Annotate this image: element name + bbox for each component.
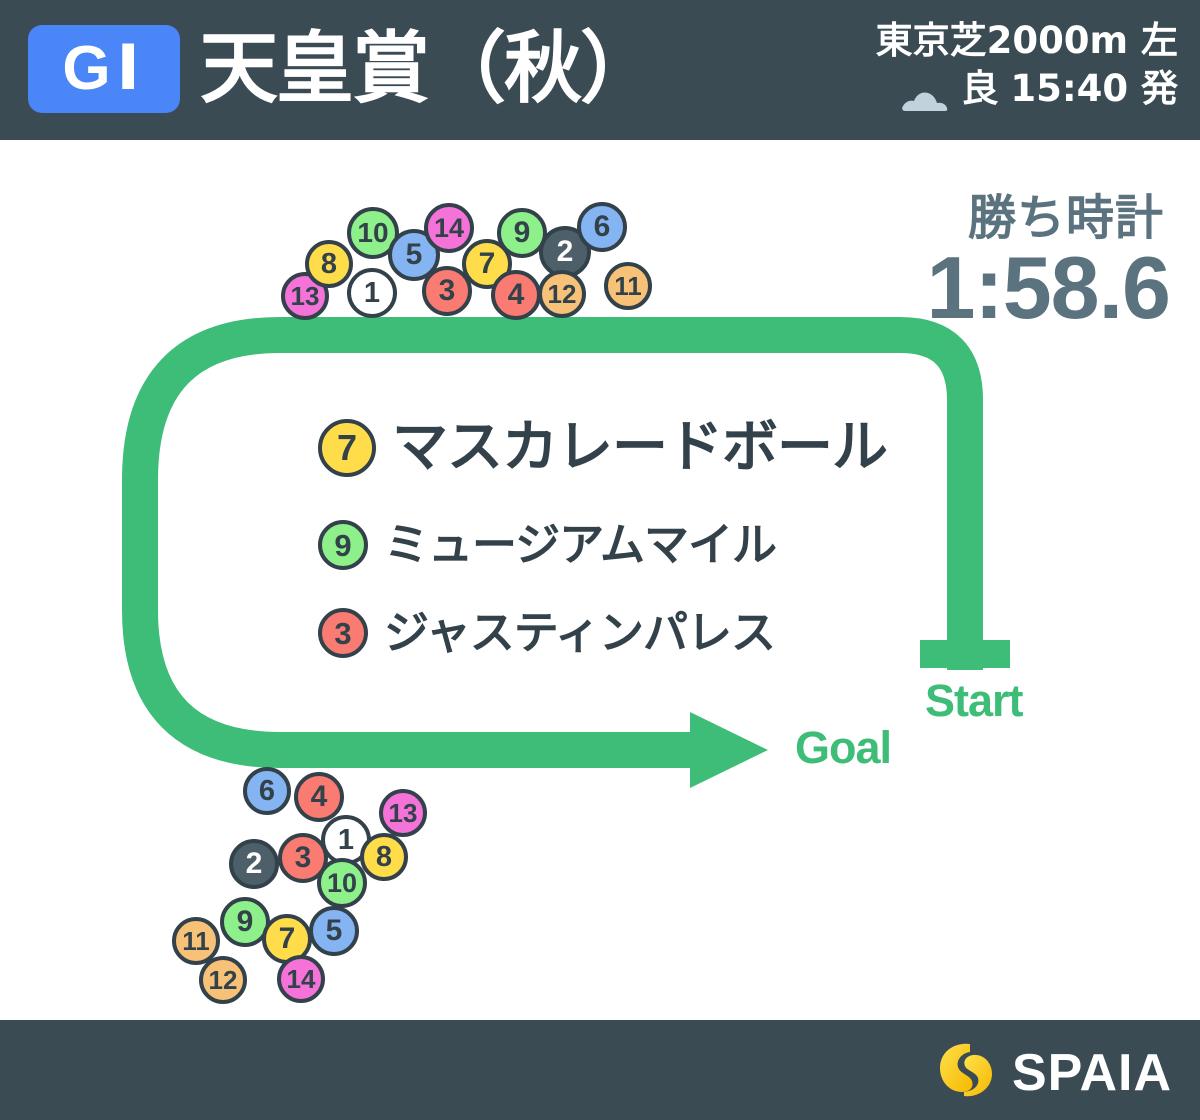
result-row: 9 ミュージアムマイル — [318, 520, 887, 570]
spaia-mark-icon — [934, 1038, 998, 1107]
condition-line: 良 15:40 発 — [876, 64, 1178, 114]
horse-number-badge: 9 — [318, 520, 368, 570]
goal-arrow-head — [690, 712, 768, 788]
horse-name: ジャスティンパレス — [384, 608, 775, 658]
goal-label: Goal — [795, 722, 891, 774]
cloud-icon — [901, 76, 949, 102]
horse-name: マスカレードボール — [392, 418, 887, 478]
page-title: 天皇賞（秋） — [200, 17, 656, 121]
brand-name: SPAIA — [1012, 1045, 1172, 1101]
brand-logo: SPAIA — [934, 1038, 1172, 1107]
result-row: 3 ジャスティンパレス — [318, 608, 887, 658]
header-bar: GⅠ 天皇賞（秋） 東京芝2000m 左 良 15:40 発 — [0, 0, 1200, 140]
start-label: Start — [925, 675, 1023, 727]
race-conditions: 東京芝2000m 左 良 15:40 発 — [876, 18, 1178, 114]
result-list: 7 マスカレードボール 9 ミュージアムマイル 3 ジャスティンパレス — [318, 418, 887, 658]
grade-badge: GⅠ — [28, 25, 180, 113]
post-time: 15:40 発 — [1010, 64, 1178, 114]
start-gate-bar — [920, 640, 1010, 668]
horse-name: ミュージアムマイル — [384, 520, 776, 570]
course-info: 東京芝2000m 左 — [876, 18, 1178, 64]
infographic-root: GⅠ 天皇賞（秋） 東京芝2000m 左 良 15:40 発 勝ち時計 1:58… — [0, 0, 1200, 1120]
track-condition: 良 — [961, 64, 998, 114]
result-row: 7 マスカレードボール — [318, 418, 887, 478]
horse-number-badge: 7 — [318, 419, 376, 477]
horse-number-badge: 3 — [318, 608, 368, 658]
